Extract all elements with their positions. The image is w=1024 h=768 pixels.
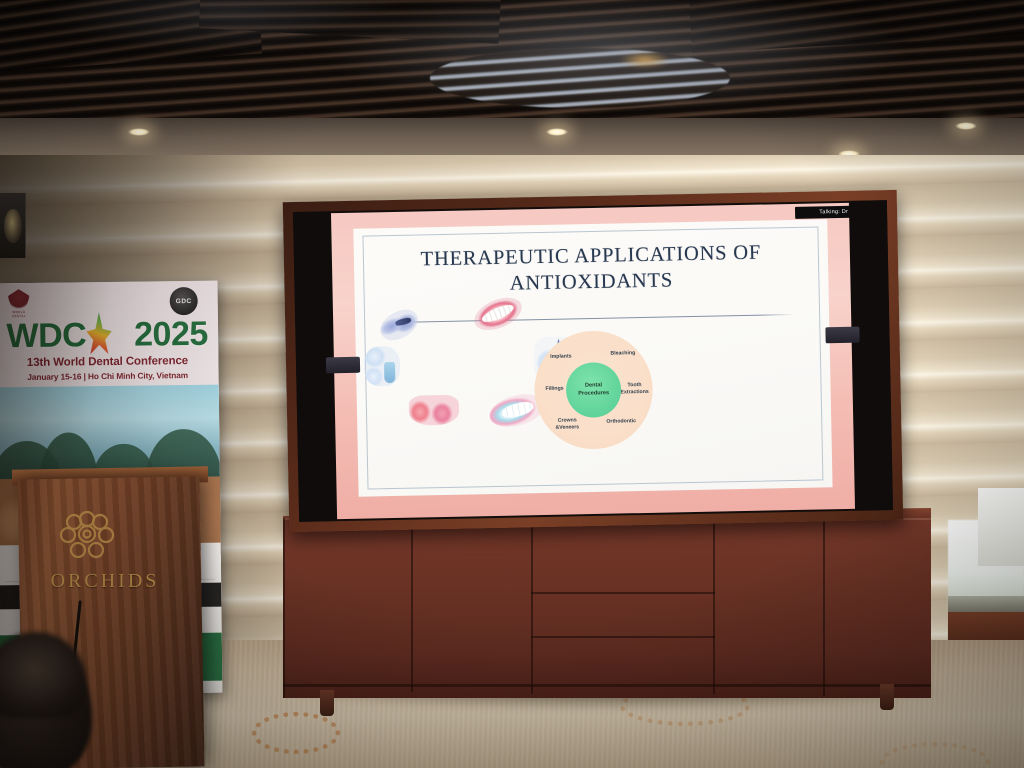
banner-year: 2025 (134, 315, 208, 354)
slide-title: THERAPEUTIC APPLICATIONS OF ANTIOXIDANTS (354, 239, 829, 300)
speaker-cone-icon (4, 209, 22, 243)
gdc-logo: GDC (170, 287, 198, 315)
warm-ceiling-light (620, 52, 670, 68)
credenza (283, 518, 931, 698)
banner-title: WDC (6, 316, 86, 355)
banner-subtitle: 13th World Dental Conference (0, 355, 219, 370)
banner-title-row: WDC 2025 (0, 317, 218, 354)
wall-speaker (0, 193, 26, 258)
downlight-1 (128, 128, 150, 136)
window-sill (948, 596, 1024, 612)
dental-procedures-diagram: Implants Bleaching Tooth Extractions Ort… (533, 330, 653, 450)
screen-mask-right (849, 200, 893, 511)
projection-screen: THERAPEUTIC APPLICATIONS OF ANTIOXIDANTS… (283, 190, 903, 532)
banner-left-logo: WORLD DENTAL (6, 289, 32, 319)
filling-tooth-illustration (364, 346, 401, 387)
screen-display-area: THERAPEUTIC APPLICATIONS OF ANTIOXIDANTS… (293, 200, 893, 522)
banner-date-location: January 15-16 | Ho Chi Minh City, Vietna… (0, 370, 219, 383)
draped-table (978, 488, 1024, 566)
downlight-3 (955, 122, 977, 130)
carpet-medallion-1 (252, 712, 340, 754)
side-table (948, 612, 1024, 642)
shield-logo-icon (8, 289, 30, 309)
ceiling (0, 0, 1024, 124)
orchids-emblem-icon (56, 510, 118, 562)
credenza-leg-left (320, 690, 334, 716)
diagram-label-implants: Implants (540, 353, 582, 360)
diagram-core-label: Dental Procedures (574, 382, 613, 398)
crowns-veneers-illustration (409, 395, 460, 426)
podium-brand: ORCHIDS (30, 570, 180, 593)
downlight-2 (546, 128, 568, 136)
diagram-label-crowns-veneers: Crowns &Veneers (545, 417, 589, 431)
screen-mount-tab-right (825, 327, 859, 344)
screen-mount-tab-left (326, 357, 360, 374)
slide-content: THERAPEUTIC APPLICATIONS OF ANTIOXIDANTS… (353, 219, 832, 496)
ceiling-light-disc (430, 48, 730, 108)
diagram-core-line-2: Procedures (578, 390, 609, 398)
photo-scene: THERAPEUTIC APPLICATIONS OF ANTIOXIDANTS… (0, 0, 1024, 768)
credenza-leg-right (880, 684, 894, 710)
diagram-label-orthodontic: Orthodontic (597, 418, 645, 426)
diagram-label-bleaching: Bleaching (600, 350, 646, 358)
